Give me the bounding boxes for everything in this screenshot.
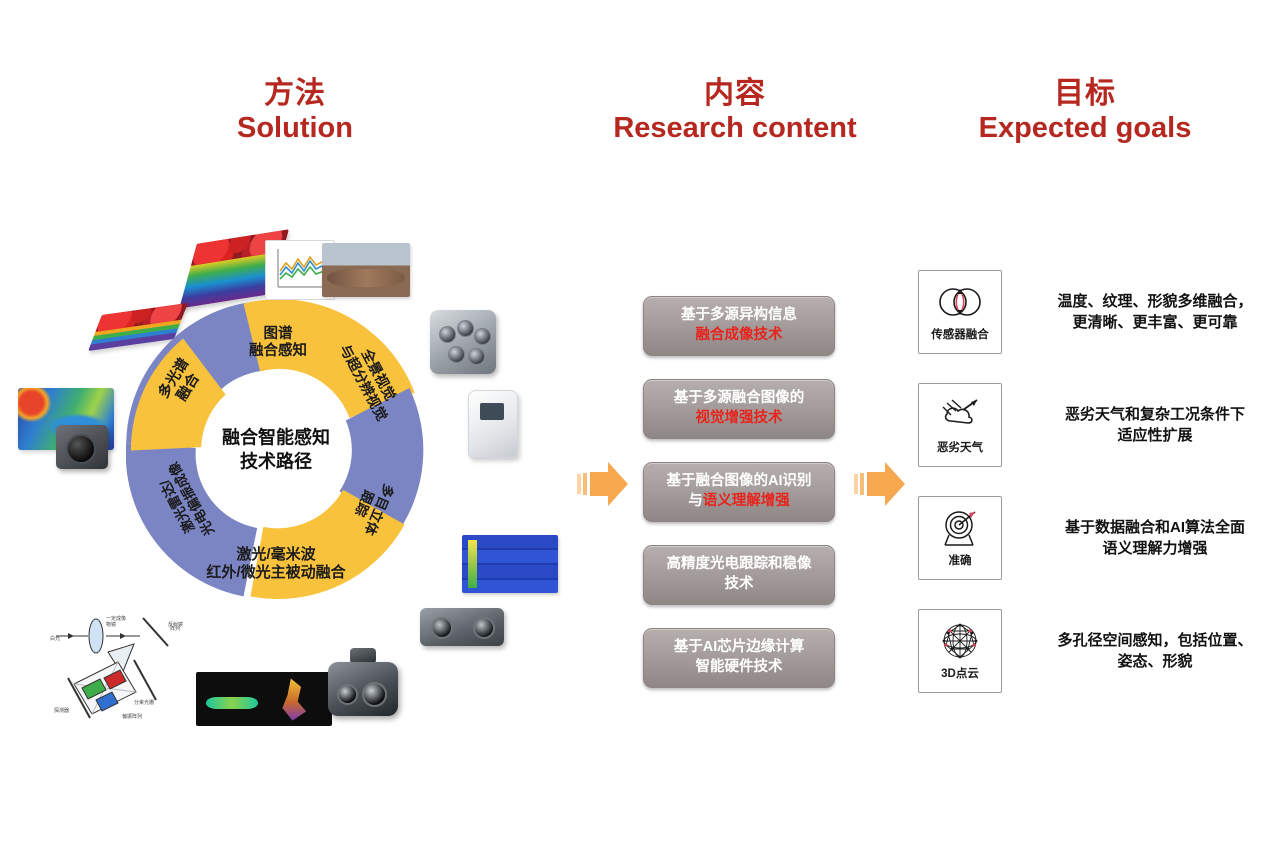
svg-text:物镜: 物镜 bbox=[106, 621, 116, 628]
research-box-line1: 基于多源异构信息 bbox=[681, 306, 797, 326]
header-cn-goals: 目标 bbox=[940, 76, 1230, 111]
donut-center-title: 融合智能感知 技术路径 bbox=[186, 426, 366, 475]
diagram-canvas: 方法 Solution 内容 Research content 目标 Expec… bbox=[0, 0, 1268, 866]
donut-center-line1: 融合智能感知 bbox=[186, 426, 366, 450]
donut-label-laser-mmwave-ir-lowlight: 激光/毫米波 红外/微光主被动融合 bbox=[140, 546, 412, 582]
research-box-fusion-imaging[interactable]: 基于多源异构信息 融合成像技术 bbox=[643, 296, 835, 356]
research-box-line1: 基于AI芯片边缘计算 bbox=[674, 638, 805, 658]
point-cloud-sphere-icon bbox=[938, 619, 982, 663]
goal-caption: 传感器融合 bbox=[931, 326, 989, 342]
goal-card-point-cloud-3d[interactable]: 3D点云 bbox=[918, 609, 1002, 693]
research-box-ai-chip-edge-computing[interactable]: 基于AI芯片边缘计算 智能硬件技术 bbox=[643, 628, 835, 688]
donut-center-line2: 技术路径 bbox=[186, 450, 366, 474]
structured-light-depth-image bbox=[462, 535, 558, 593]
arrow-content-to-goals bbox=[851, 458, 909, 515]
gimbal-turret-image bbox=[326, 648, 400, 718]
column-header-research-content: 内容 Research content bbox=[590, 76, 880, 146]
venn-circles-icon bbox=[935, 280, 985, 324]
svg-text:白光: 白光 bbox=[50, 635, 60, 642]
goal-row-severe-weather: 恶劣天气 恶劣天气和复杂工况条件下 适应性扩展 bbox=[918, 383, 1268, 467]
rain-cloud-icon bbox=[937, 393, 983, 437]
optical-path-schematic: 白光 一定成像 物镜 反射镜 阵列 分束光栅 偏振阵列 探测器 bbox=[48, 600, 198, 720]
line2-highlight: 语义理解增强 bbox=[703, 493, 790, 509]
thermal-camera-image bbox=[56, 425, 108, 469]
goal-caption: 恶劣天气 bbox=[937, 439, 983, 455]
research-box-line2: 智能硬件技术 bbox=[696, 658, 783, 678]
header-cn-solution: 方法 bbox=[150, 76, 440, 111]
goal-row-sensor-fusion: 传感器融合 温度、纹理、形貌多维融合， 更清晰、更丰富、更可靠 bbox=[918, 270, 1268, 354]
research-box-line2: 与语义理解增强 bbox=[688, 492, 790, 512]
research-box-line1: 基于融合图像的AI识别 bbox=[667, 472, 812, 492]
svg-text:偏振阵列: 偏振阵列 bbox=[122, 713, 142, 720]
technology-roadmap-donut: 图谱 融合感知 全景视觉 与超分辨视觉 多目立体 跟踪 激光/毫米波 红外/微光… bbox=[126, 300, 426, 600]
research-box-line1: 基于多源融合图像的 bbox=[674, 389, 805, 409]
column-header-expected-goals: 目标 Expected goals bbox=[940, 76, 1230, 146]
research-box-line2: 视觉增强技术 bbox=[696, 409, 783, 429]
goal-card-sensor-fusion[interactable]: 传感器融合 bbox=[918, 270, 1002, 354]
scanner-device-image bbox=[468, 390, 518, 458]
arrow-solution-to-content bbox=[574, 458, 632, 515]
research-box-high-precision-tracking[interactable]: 高精度光电跟踪和稳像 技术 bbox=[643, 545, 835, 605]
research-box-line1: 高精度光电跟踪和稳像 bbox=[667, 555, 812, 575]
goal-text-line1: 恶劣天气和复杂工况条件下 bbox=[1030, 404, 1268, 425]
research-box-line2: 技术 bbox=[725, 575, 754, 595]
header-en-solution: Solution bbox=[150, 111, 440, 145]
goal-card-accuracy[interactable]: 准确 bbox=[918, 496, 1002, 580]
goal-row-accuracy: 准确 基于数据融合和AI算法全面 语义理解力增强 bbox=[918, 496, 1268, 580]
goal-caption: 准确 bbox=[949, 552, 972, 568]
research-box-line2: 融合成像技术 bbox=[696, 326, 783, 346]
donut-label-spectral-fusion-sensing: 图谱 融合感知 bbox=[208, 326, 348, 361]
goal-text-line1: 基于数据融合和AI算法全面 bbox=[1030, 517, 1268, 538]
goal-row-point-cloud-3d: 3D点云 多孔径空间感知，包括位置、 姿态、形貌 bbox=[918, 609, 1268, 693]
svg-text:探测器: 探测器 bbox=[54, 707, 69, 714]
goal-card-severe-weather[interactable]: 恶劣天气 bbox=[918, 383, 1002, 467]
svg-text:分束光栅: 分束光栅 bbox=[134, 699, 154, 706]
column-header-solution: 方法 Solution bbox=[150, 76, 440, 146]
header-en-goals: Expected goals bbox=[940, 111, 1230, 145]
research-box-visual-enhancement[interactable]: 基于多源融合图像的 视觉增强技术 bbox=[643, 379, 835, 439]
header-en-content: Research content bbox=[590, 111, 880, 145]
goal-text-line2: 适应性扩展 bbox=[1030, 425, 1268, 446]
header-cn-content: 内容 bbox=[590, 76, 880, 111]
goal-text-accuracy: 基于数据融合和AI算法全面 语义理解力增强 bbox=[1030, 517, 1268, 560]
svg-text:一定成像: 一定成像 bbox=[106, 615, 126, 622]
night-vision-frame-b bbox=[258, 672, 332, 726]
svg-text:阵列: 阵列 bbox=[170, 625, 180, 632]
stereo-camera-bar-image bbox=[420, 608, 504, 646]
goal-text-line2: 姿态、形貌 bbox=[1030, 651, 1268, 672]
goal-text-severe-weather: 恶劣天气和复杂工况条件下 适应性扩展 bbox=[1030, 404, 1268, 447]
goal-text-point-cloud-3d: 多孔径空间感知，包括位置、 姿态、形貌 bbox=[1030, 630, 1268, 673]
goal-text-line1: 温度、纹理、形貌多维融合， bbox=[1030, 291, 1268, 312]
goal-text-line2: 语义理解力增强 bbox=[1030, 538, 1268, 559]
goal-text-line1: 多孔径空间感知，包括位置、 bbox=[1030, 630, 1268, 651]
multi-lens-panoramic-camera-image bbox=[430, 310, 496, 374]
goal-text-sensor-fusion: 温度、纹理、形貌多维融合， 更清晰、更丰富、更可靠 bbox=[1030, 291, 1268, 334]
target-dart-icon bbox=[937, 506, 983, 550]
goal-caption: 3D点云 bbox=[941, 665, 979, 681]
pipeline-inspection-photo bbox=[322, 243, 410, 297]
research-box-ai-recognition-semantics[interactable]: 基于融合图像的AI识别 与语义理解增强 bbox=[643, 462, 835, 522]
line2-prefix: 与 bbox=[688, 493, 703, 509]
goal-text-line2: 更清晰、更丰富、更可靠 bbox=[1030, 312, 1268, 333]
